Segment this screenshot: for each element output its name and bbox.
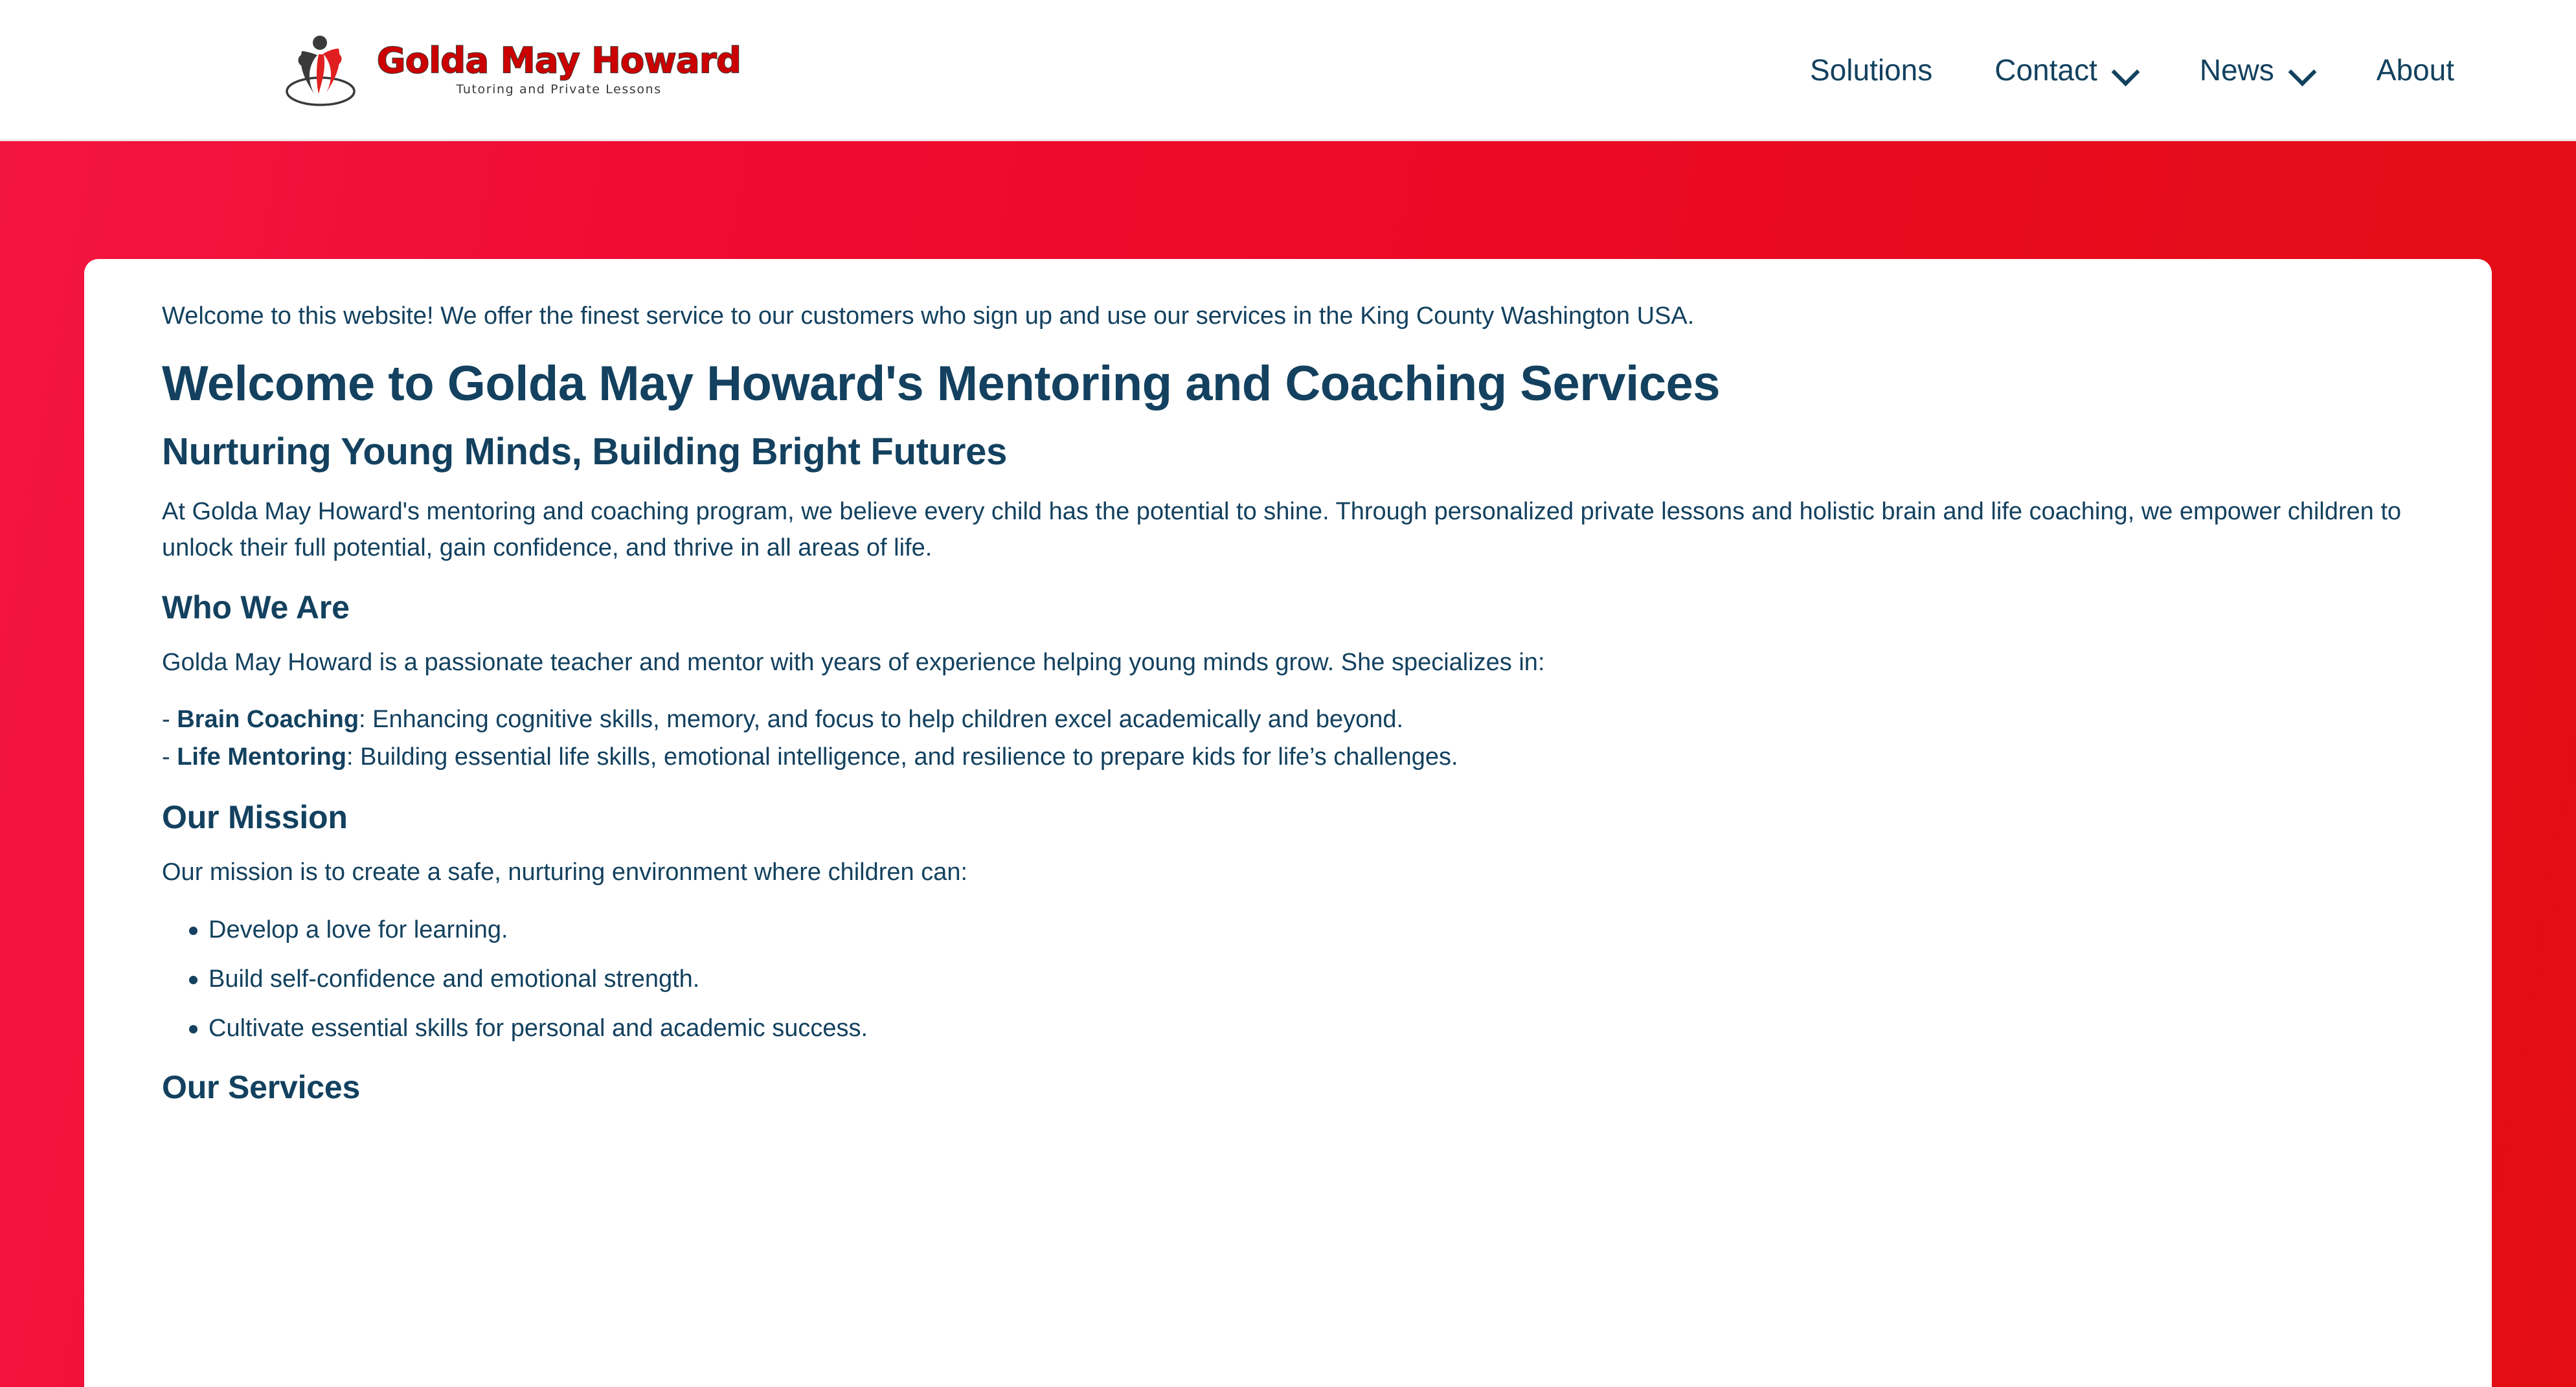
- section-title-who-we-are: Who We Are: [162, 587, 2414, 628]
- section-title-our-services: Our Services: [162, 1067, 2414, 1108]
- nav-label-about: About: [2377, 52, 2454, 87]
- nav-item-about[interactable]: About: [2345, 46, 2485, 94]
- page-title: Welcome to Golda May Howard's Mentoring …: [162, 354, 2414, 414]
- section-title-our-mission: Our Mission: [162, 797, 2414, 838]
- list-item: Cultivate essential skills for personal …: [162, 1010, 2414, 1046]
- list-item: - Brain Coaching: Enhancing cognitive sk…: [162, 701, 2414, 739]
- nav-item-news[interactable]: News: [2169, 46, 2345, 94]
- item-description: : Building essential life skills, emotio…: [346, 743, 1458, 771]
- hero-red-band: Welcome to this website! We offer the fi…: [0, 141, 2576, 1387]
- item-label: Life Mentoring: [177, 743, 346, 771]
- mission-bullet-list: Develop a love for learning. Build self-…: [162, 912, 2414, 1047]
- specialization-list: - Brain Coaching: Enhancing cognitive sk…: [162, 701, 2414, 776]
- our-mission-paragraph: Our mission is to create a safe, nurturi…: [162, 854, 2414, 890]
- list-item: Develop a love for learning.: [162, 912, 2414, 948]
- who-we-are-paragraph: Golda May Howard is a passionate teacher…: [162, 644, 2414, 681]
- chevron-down-icon: [2112, 62, 2138, 78]
- people-circle-logo-icon: [278, 32, 363, 108]
- nav-label-news: News: [2200, 52, 2274, 87]
- item-description: : Enhancing cognitive skills, memory, an…: [359, 706, 1403, 733]
- site-header: Golda May Howard Tutoring and Private Le…: [0, 0, 2576, 141]
- chevron-down-icon: [2288, 62, 2314, 78]
- dash-prefix: -: [162, 743, 177, 771]
- content-card: Welcome to this website! We offer the fi…: [84, 259, 2492, 1387]
- brand-logo-link[interactable]: Golda May Howard Tutoring and Private Le…: [278, 32, 741, 108]
- list-item: - Life Mentoring: Building essential lif…: [162, 739, 2414, 776]
- dash-prefix: -: [162, 706, 177, 733]
- main-navigation: Solutions Contact News About: [1779, 46, 2485, 94]
- nav-item-contact[interactable]: Contact: [1963, 46, 2169, 94]
- page-subtitle: Nurturing Young Minds, Building Bright F…: [162, 429, 2414, 476]
- list-item: Build self-confidence and emotional stre…: [162, 961, 2414, 997]
- lead-paragraph: At Golda May Howard's mentoring and coac…: [162, 493, 2414, 566]
- nav-label-contact: Contact: [1994, 52, 2097, 87]
- intro-paragraph: Welcome to this website! We offer the fi…: [162, 298, 2414, 335]
- nav-item-solutions[interactable]: Solutions: [1779, 46, 1963, 94]
- item-label: Brain Coaching: [177, 706, 359, 733]
- nav-label-solutions: Solutions: [1810, 52, 1932, 87]
- brand-name: Golda May Howard: [377, 43, 741, 78]
- brand-tagline: Tutoring and Private Lessons: [457, 82, 662, 96]
